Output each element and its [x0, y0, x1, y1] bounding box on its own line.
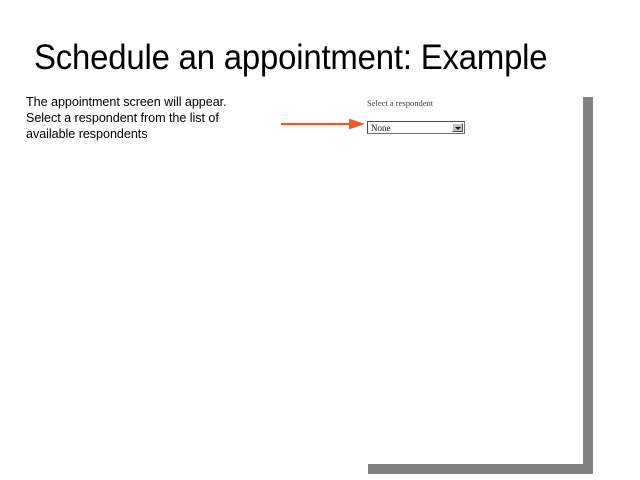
shadow-edge-bottom	[368, 464, 593, 474]
arrow-right-icon	[281, 116, 367, 132]
app-screenshot: Select a respondent None	[366, 98, 470, 140]
respondent-label: Select a respondent	[367, 98, 433, 109]
chevron-down-glyph	[455, 127, 461, 130]
slide-canvas: Schedule an appointment: Example The app…	[0, 0, 640, 480]
callout-arrow	[281, 116, 367, 132]
respondent-select-value: None	[371, 123, 391, 133]
instruction-text: The appointment screen will appear. Sele…	[26, 94, 258, 142]
chevron-down-icon[interactable]	[452, 123, 463, 132]
shadow-edge-right	[583, 97, 593, 474]
respondent-select[interactable]: None	[367, 121, 465, 134]
page-title: Schedule an appointment: Example	[34, 38, 579, 78]
